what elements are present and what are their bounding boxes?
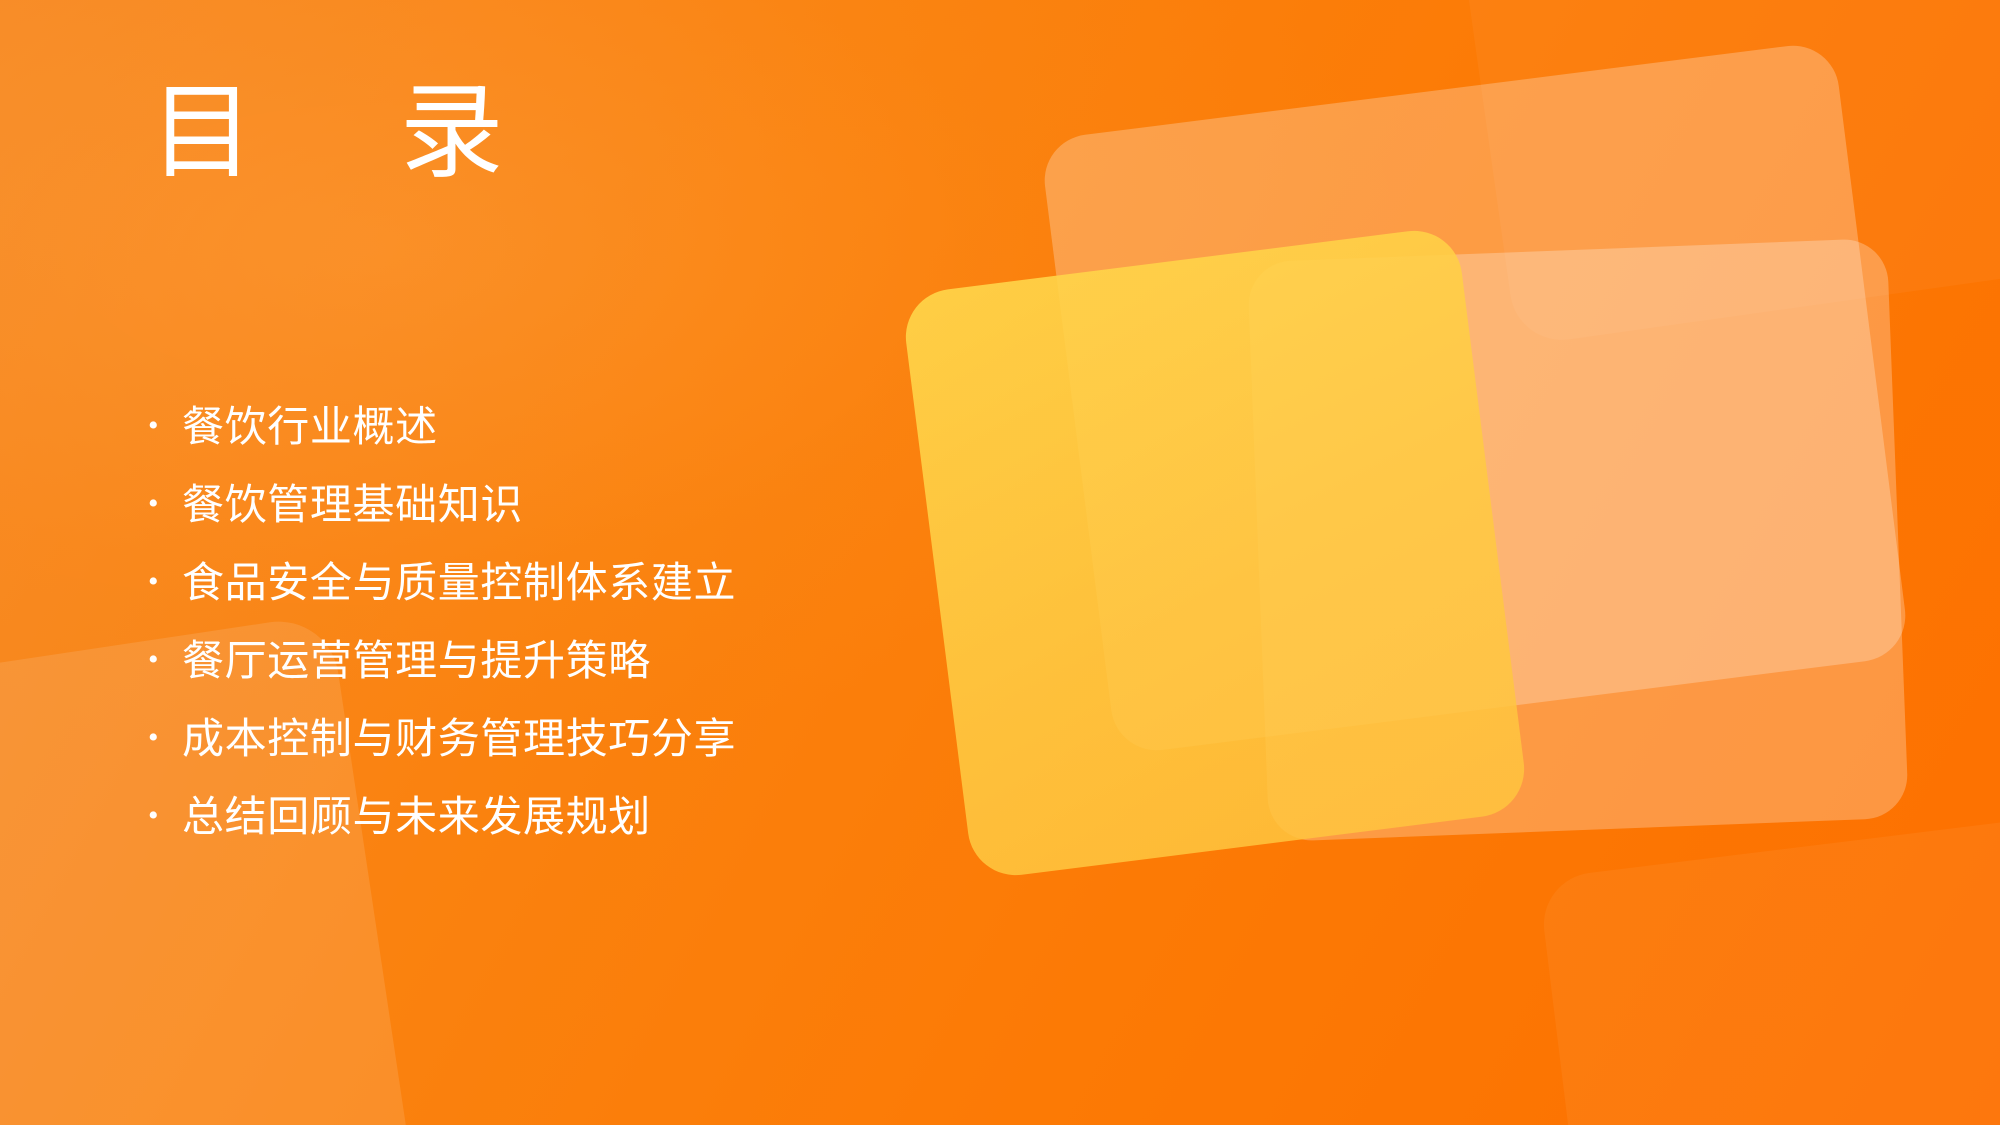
toc-item-label: 成本控制与财务管理技巧分享 [182, 717, 736, 763]
list-item[interactable]: • 餐饮管理基础知识 [148, 483, 736, 561]
list-item[interactable]: • 总结回顾与未来发展规划 [148, 795, 736, 873]
bullet-icon: • [148, 723, 182, 753]
slide-content: 目 录 • 餐饮行业概述 • 餐饮管理基础知识 • 食品安全与质量控制体系建立 … [0, 0, 2000, 1125]
toc-item-label: 餐厅运营管理与提升策略 [182, 639, 651, 685]
toc-item-label: 餐饮行业概述 [182, 405, 438, 451]
slide-canvas: 目 录 • 餐饮行业概述 • 餐饮管理基础知识 • 食品安全与质量控制体系建立 … [0, 0, 2000, 1125]
toc-item-label: 食品安全与质量控制体系建立 [182, 561, 736, 607]
table-of-contents-list: • 餐饮行业概述 • 餐饮管理基础知识 • 食品安全与质量控制体系建立 • 餐厅… [148, 405, 736, 873]
list-item[interactable]: • 食品安全与质量控制体系建立 [148, 561, 736, 639]
list-item[interactable]: • 餐厅运营管理与提升策略 [148, 639, 736, 717]
bullet-icon: • [148, 645, 182, 675]
bullet-icon: • [148, 567, 182, 597]
bullet-icon: • [148, 489, 182, 519]
bullet-icon: • [148, 801, 182, 831]
list-item[interactable]: • 成本控制与财务管理技巧分享 [148, 717, 736, 795]
bullet-icon: • [148, 411, 182, 441]
list-item[interactable]: • 餐饮行业概述 [148, 405, 736, 483]
toc-item-label: 餐饮管理基础知识 [182, 483, 523, 529]
page-title: 目 录 [150, 76, 535, 192]
toc-item-label: 总结回顾与未来发展规划 [182, 795, 651, 841]
